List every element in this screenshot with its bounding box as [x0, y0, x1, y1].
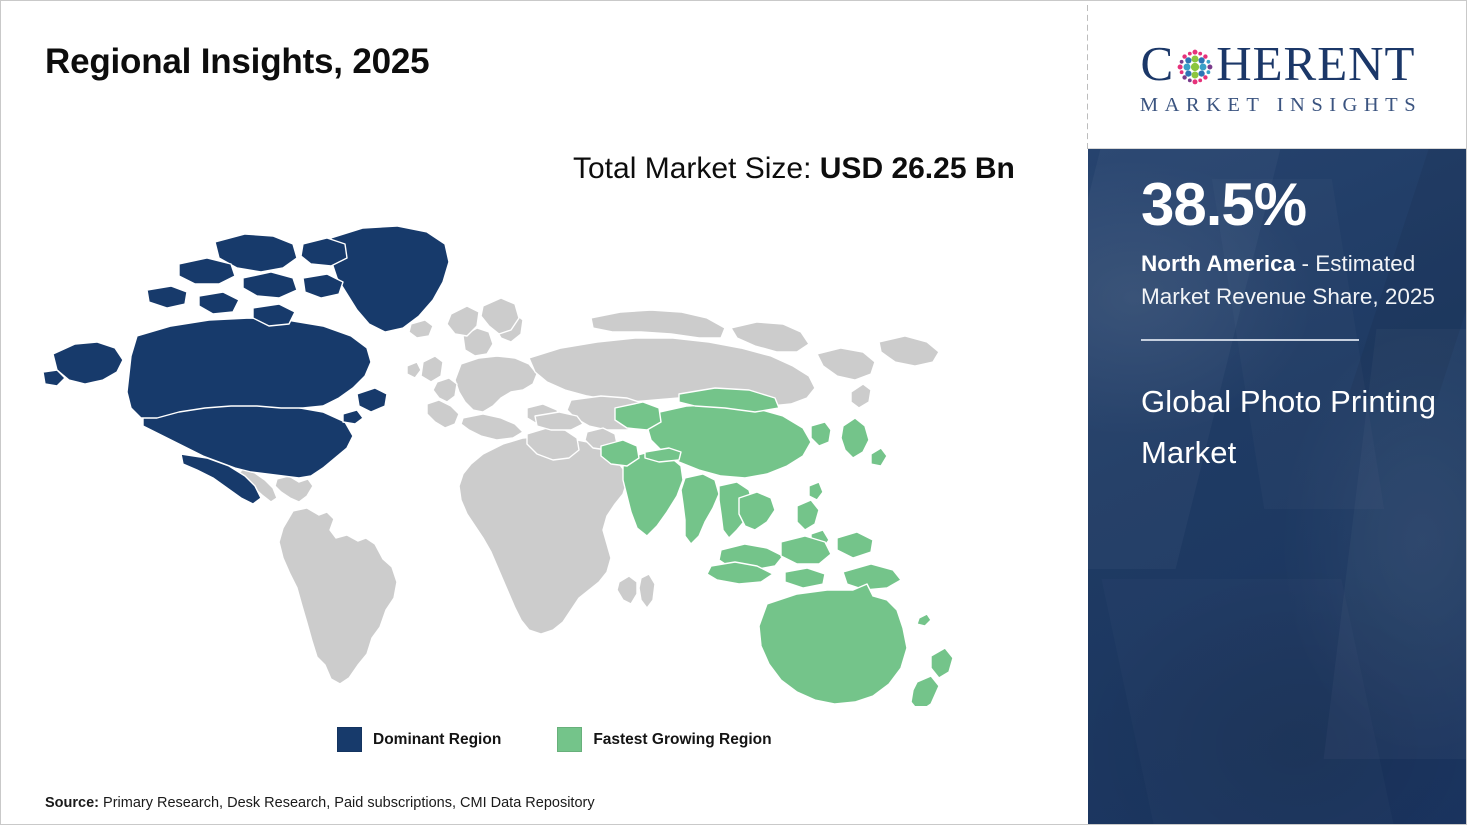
legend-label-dominant: Dominant Region	[373, 731, 501, 749]
revenue-share-percent: 38.5%	[1141, 173, 1467, 236]
map-region-north-america	[43, 226, 449, 504]
map-panel: Regional Insights, 2025 Total Market Siz…	[1, 1, 1087, 825]
brand-logo: C	[1088, 1, 1467, 149]
fastest-growing-swatch-icon	[557, 727, 582, 752]
map-legend: Dominant Region Fastest Growing Region	[337, 727, 772, 752]
source-label: Source:	[45, 795, 99, 811]
world-map-svg	[31, 186, 1031, 706]
revenue-share-description: North America - Estimated Market Revenue…	[1141, 247, 1443, 313]
legend-label-fastest-growing: Fastest Growing Region	[593, 731, 771, 749]
map-region-asia-pacific	[601, 388, 953, 706]
stat-content: 38.5% North America - Estimated Market R…	[1088, 173, 1467, 478]
stat-divider	[1141, 339, 1359, 341]
dominant-region-name: North America	[1141, 251, 1295, 276]
regional-insights-infographic: Regional Insights, 2025 Total Market Siz…	[0, 0, 1467, 825]
market-size-label: Total Market Size:	[573, 152, 820, 185]
world-map	[31, 186, 1031, 706]
logo-tagline: MARKET INSIGHTS	[1134, 94, 1422, 117]
dominant-swatch-icon	[337, 727, 362, 752]
logo-text-prefix: C	[1141, 39, 1175, 88]
legend-item-fastest-growing: Fastest Growing Region	[557, 727, 771, 752]
stats-block: 38.5% North America - Estimated Market R…	[1088, 149, 1467, 825]
market-size-value: USD 26.25 Bn	[820, 152, 1015, 185]
page-title: Regional Insights, 2025	[45, 42, 429, 82]
legend-item-dominant: Dominant Region	[337, 727, 501, 752]
bg-facet	[1101, 579, 1394, 825]
source-note: Source: Primary Research, Desk Research,…	[45, 795, 595, 811]
insights-side-panel: C	[1088, 1, 1467, 825]
logo-text-suffix: HERENT	[1216, 39, 1415, 88]
source-text: Primary Research, Desk Research, Paid su…	[99, 795, 595, 811]
logo-wordmark: C	[1141, 39, 1416, 88]
market-name: Global Photo Printing Market	[1141, 376, 1441, 478]
total-market-size: Total Market Size: USD 26.25 Bn	[573, 147, 1043, 191]
globe-dots-icon	[1175, 46, 1215, 86]
